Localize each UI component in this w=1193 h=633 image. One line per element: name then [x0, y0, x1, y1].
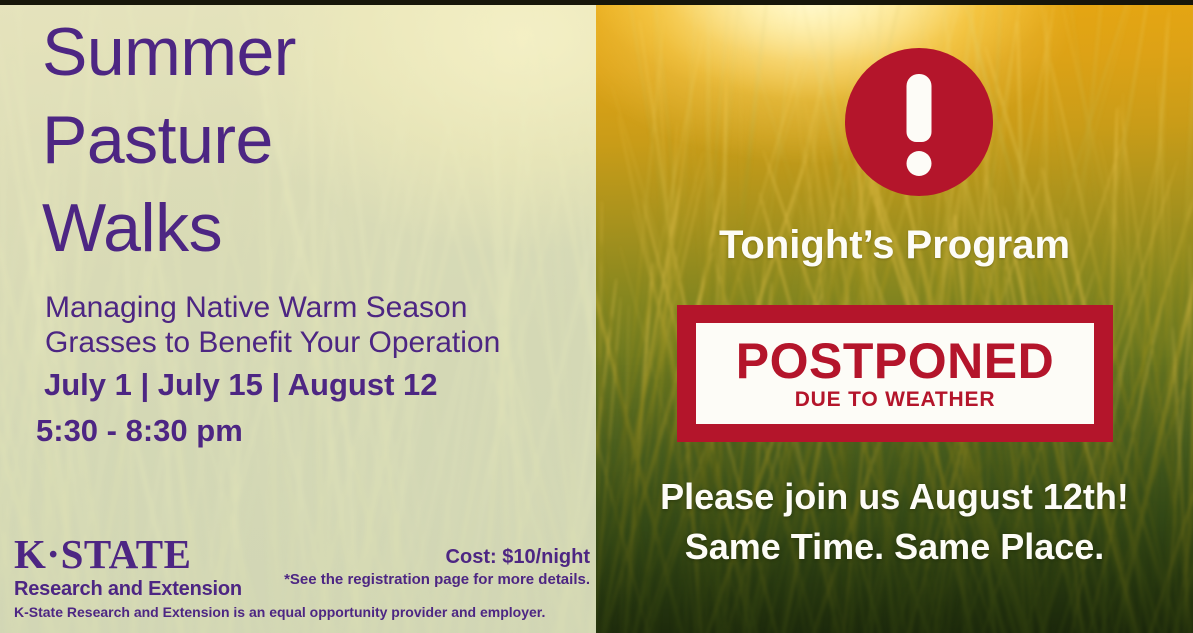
subtitle-line-1: Managing Native Warm Season	[45, 290, 500, 325]
right-panel: Tonight’s Program POSTPONED DUE TO WEATH…	[596, 0, 1193, 633]
postponed-banner-inner: POSTPONED DUE TO WEATHER	[696, 323, 1094, 424]
postponed-reason: DUE TO WEATHER	[795, 388, 996, 412]
top-border-band	[0, 0, 1193, 5]
subtitle-line-2: Grasses to Benefit Your Operation	[45, 325, 500, 360]
closing-line-2: Same Time. Same Place.	[596, 522, 1193, 572]
kstate-wordmark: K·STATE	[14, 534, 242, 574]
tonights-program-heading: Tonight’s Program	[596, 223, 1193, 268]
event-dates: July 1 | July 15 | August 12	[44, 367, 438, 403]
closing-message: Please join us August 12th! Same Time. S…	[596, 472, 1193, 572]
left-panel: Summer Pasture Walks Managing Native War…	[0, 0, 596, 633]
kstate-logo: K·STATE Research and Extension	[14, 534, 242, 601]
event-times: 5:30 - 8:30 pm	[36, 413, 243, 449]
poster-canvas: Summer Pasture Walks Managing Native War…	[0, 0, 1193, 633]
cost-block: Cost: $10/night *See the registration pa…	[284, 546, 590, 589]
event-title: Summer Pasture Walks	[42, 8, 296, 272]
postponed-banner: POSTPONED DUE TO WEATHER	[677, 305, 1113, 442]
cost-amount: Cost: $10/night	[284, 546, 590, 569]
title-line-3: Walks	[42, 184, 296, 272]
exclamation-icon	[845, 48, 993, 196]
event-subtitle: Managing Native Warm Season Grasses to B…	[45, 290, 500, 360]
title-line-2: Pasture	[42, 96, 296, 184]
eeo-statement: K-State Research and Extension is an equ…	[14, 604, 545, 620]
exclamation-stem	[907, 74, 932, 142]
cost-note: *See the registration page for more deta…	[284, 570, 590, 589]
closing-line-1: Please join us August 12th!	[596, 472, 1193, 522]
exclamation-dot	[907, 151, 932, 176]
title-line-1: Summer	[42, 8, 296, 96]
kstate-tagline: Research and Extension	[14, 577, 242, 601]
postponed-label: POSTPONED	[736, 335, 1054, 387]
left-content: Summer Pasture Walks Managing Native War…	[0, 0, 596, 633]
